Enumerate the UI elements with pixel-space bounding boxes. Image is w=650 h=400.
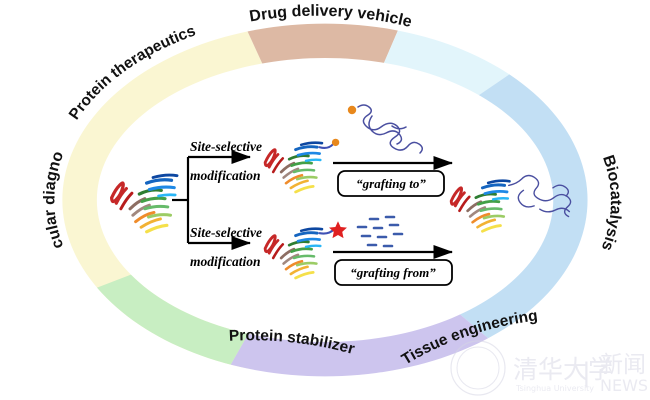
branch-label-top-line2: modification — [190, 168, 261, 183]
watermark: 清华大学 Tsinghua University | 新闻 NEWS — [451, 341, 648, 395]
polymer-end-group-icon — [348, 106, 356, 114]
grafting-from-label: “grafting from” — [350, 265, 436, 280]
orange-handle-icon — [332, 139, 339, 146]
ring-label-biocatalysis: Biocatalysis — [598, 153, 624, 253]
watermark-seal-icon — [451, 341, 505, 395]
species-protein-handle — [265, 139, 339, 192]
branch-label-bottom-line1: Site-selective — [190, 225, 262, 240]
species-polymer-chain — [348, 105, 422, 153]
branch-label-bottom-line2: modification — [190, 254, 261, 269]
watermark-divider: | — [582, 358, 591, 388]
species-monomer-cloud — [358, 217, 402, 246]
branch-label-top-line1: Site-selective — [190, 139, 262, 154]
species-native-protein — [112, 175, 177, 232]
protein-conjugate-diagram: Molecular diagnostics Protein therapeuti… — [0, 0, 650, 400]
ring-label-molecular-diagnostics: Molecular diagnostics — [0, 0, 67, 251]
watermark-en-news: NEWS — [600, 376, 648, 395]
branch-brace — [172, 157, 188, 243]
grafting-to-label: “grafting to” — [356, 176, 426, 191]
watermark-cn-university: 清华大学 — [513, 355, 613, 384]
watermark-cn-news: 新闻 — [600, 352, 646, 378]
red-star-icon — [329, 221, 347, 238]
